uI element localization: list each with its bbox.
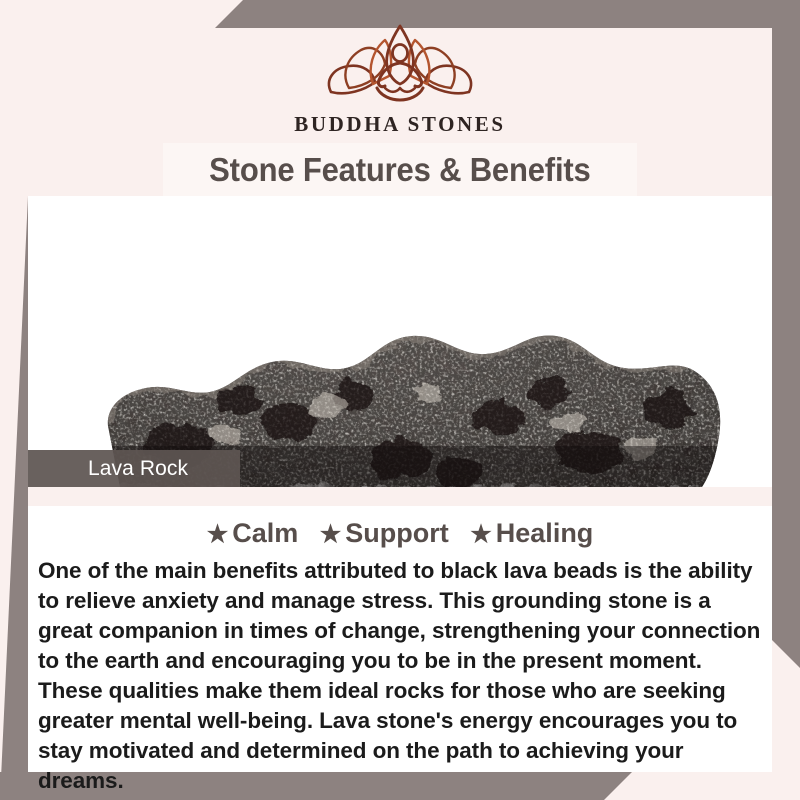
title-banner: Stone Features & Benefits xyxy=(163,143,637,197)
star-icon: ★ xyxy=(207,521,229,548)
benefit-item-calm: ★Calm xyxy=(207,518,299,549)
brand-logo: BUDDHA STONES xyxy=(0,18,800,137)
frame-bar-left xyxy=(0,196,28,800)
stone-name-label-bar: Lava Rock xyxy=(28,450,240,488)
stone-name-label: Lava Rock xyxy=(28,457,188,481)
benefit-label-support: Support xyxy=(345,518,448,548)
star-icon: ★ xyxy=(320,521,342,548)
benefits-row: ★Calm ★Support ★Healing xyxy=(28,506,772,549)
description-text: One of the main benefits attributed to b… xyxy=(38,556,762,796)
product-info-card: BUDDHA STONES Stone Features & Benefits xyxy=(0,0,800,800)
header: BUDDHA STONES xyxy=(0,0,800,142)
benefit-label-calm: Calm xyxy=(232,518,298,548)
separator-strip xyxy=(28,487,772,506)
lava-rock-photo xyxy=(28,196,772,487)
text-panel: ★Calm ★Support ★Healing One of the main … xyxy=(28,506,772,772)
lotus-meditation-figure-logo-icon xyxy=(315,18,485,110)
star-icon: ★ xyxy=(470,521,492,548)
benefit-item-healing: ★Healing xyxy=(470,518,593,549)
photo-panel xyxy=(28,196,772,487)
page-title: Stone Features & Benefits xyxy=(209,151,590,189)
benefit-label-healing: Healing xyxy=(496,518,594,548)
brand-name: BUDDHA STONES xyxy=(0,112,800,137)
benefit-item-support: ★Support xyxy=(320,518,449,549)
